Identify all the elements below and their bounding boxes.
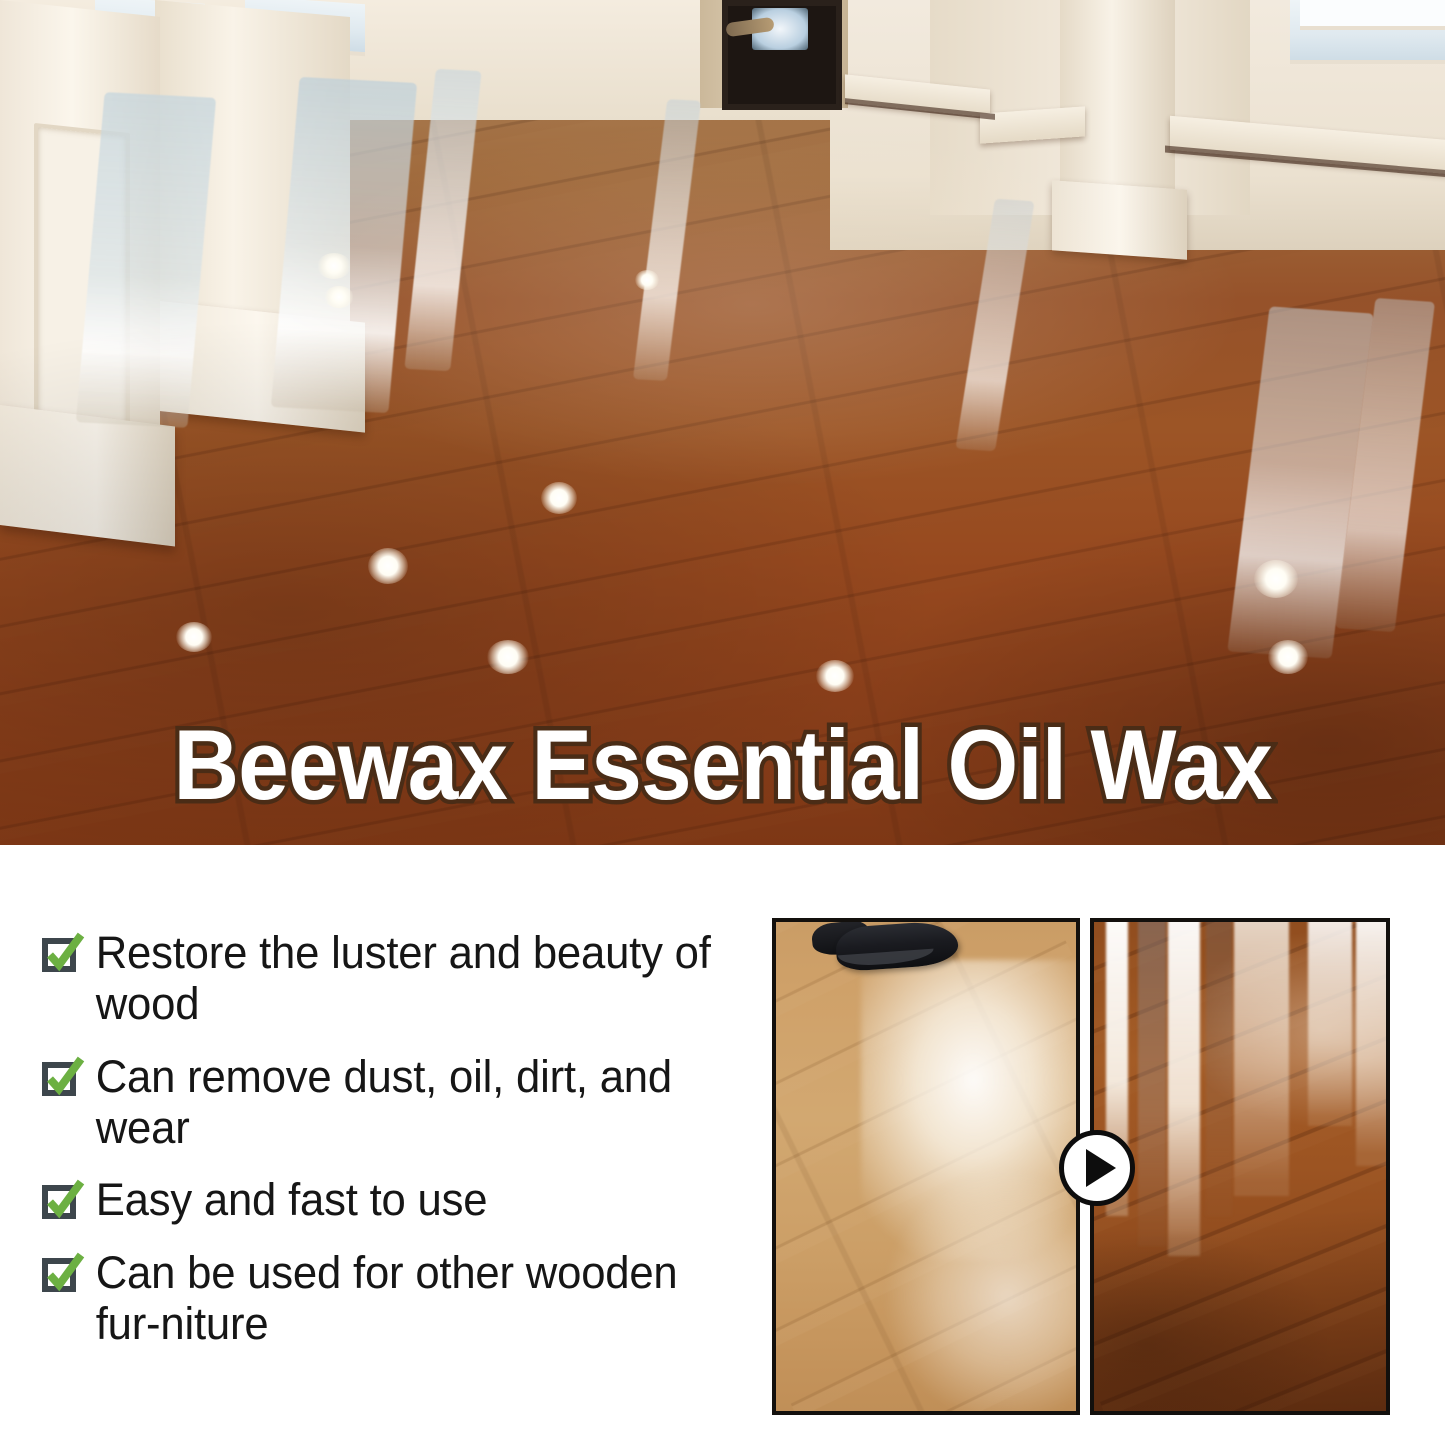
checkbox-checked-icon [40,932,86,978]
feature-label: Restore the luster and beauty of wood [86,928,720,1030]
feature-label: Can be used for other wooden fur-niture [86,1248,720,1350]
floor-glint-1 [541,482,577,514]
floor-glint-9 [324,286,354,308]
feature-item: Can remove dust, oil, dirt, and wear [40,1052,740,1154]
floor-glint-5 [816,660,854,692]
floor-glint-10 [635,270,659,290]
after-photo [1090,918,1390,1415]
feature-list: Restore the luster and beauty of wood Ca… [40,928,740,1350]
before-photo [772,918,1080,1415]
feature-label: Can remove dust, oil, dirt, and wear [86,1052,720,1154]
play-icon [1086,1149,1116,1187]
floor-glint-8 [317,253,351,279]
floor-glint-4 [487,640,529,674]
product-marketing-page: Beewax Essential Oil Wax Restore the lus… [0,0,1445,1445]
checkbox-checked-icon [40,1179,86,1225]
floor-glint-6 [1254,560,1298,598]
play-button[interactable] [1059,1130,1135,1206]
checkbox-checked-icon [40,1056,86,1102]
after-gloss-overlay [1094,922,1386,1411]
floor-glint-7 [1268,640,1308,674]
before-glare-patch-lower [886,1172,1080,1415]
checkbox-checked-icon [40,1252,86,1298]
floor-glint-2 [368,548,408,584]
hero-image: Beewax Essential Oil Wax [0,0,1445,845]
feature-label: Easy and fast to use [86,1175,487,1226]
feature-item: Can be used for other wooden fur-niture [40,1248,740,1350]
feature-item: Restore the luster and beauty of wood [40,928,740,1030]
product-title: Beewax Essential Oil Wax [58,715,1387,814]
floor-glint-3 [176,622,212,652]
feature-item: Easy and fast to use [40,1175,740,1226]
before-after-comparison [772,918,1390,1415]
